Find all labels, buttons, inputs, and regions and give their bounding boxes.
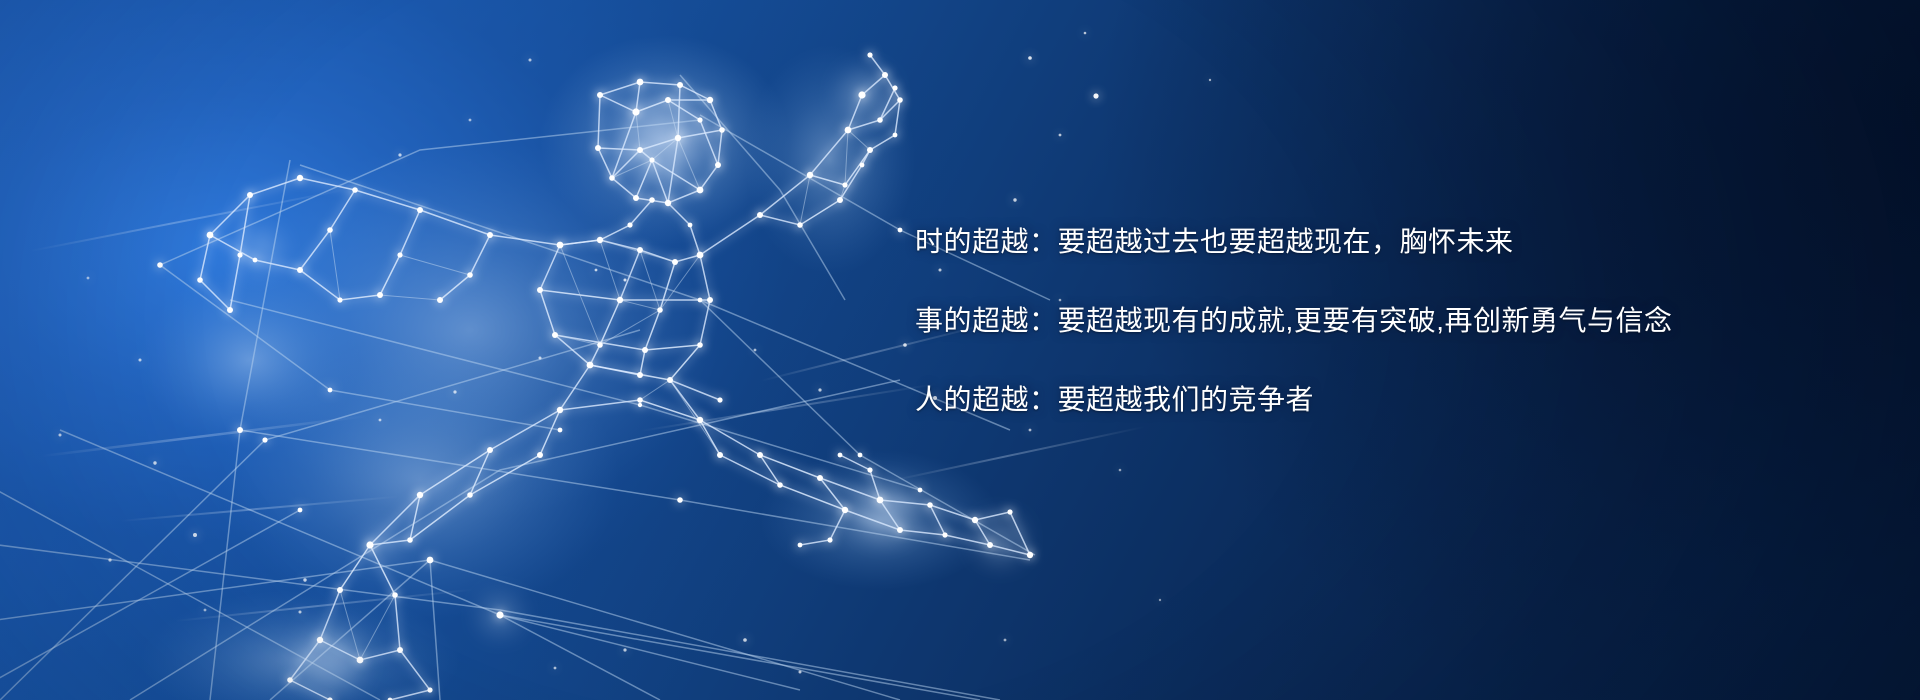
tagline-block: 时的超越：要超越过去也要超越现在，胸怀未来 事的超越：要超越现有的成就,更要有突… (915, 228, 1815, 414)
tagline-line-3: 人的超越：要超越我们的竞争者 (915, 386, 1815, 414)
tagline-line-2: 事的超越：要超越现有的成就,更要有突破,再创新勇气与信念 (915, 307, 1815, 335)
tagline-line-1: 时的超越：要超越过去也要超越现在，胸怀未来 (915, 228, 1815, 256)
banner-stage: 时的超越：要超越过去也要超越现在，胸怀未来 事的超越：要超越现有的成就,更要有突… (0, 0, 1920, 700)
